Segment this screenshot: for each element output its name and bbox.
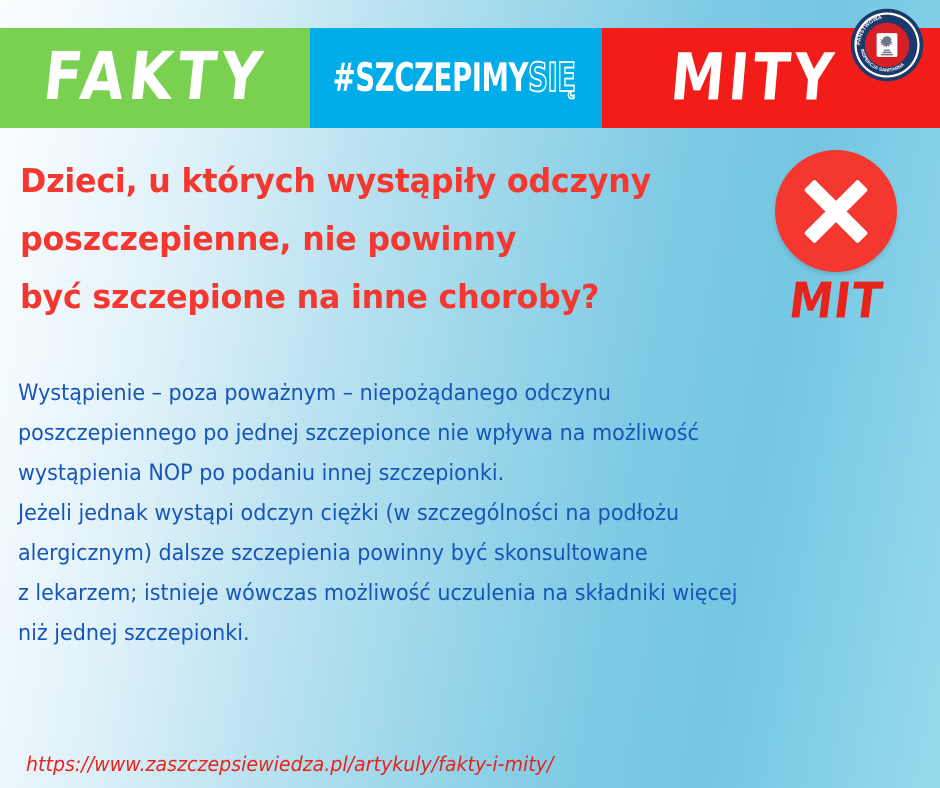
campaign-hashtag: #SZCZEPIMY SIĘ	[332, 55, 575, 101]
verdict-badge: MIT	[775, 150, 897, 324]
facts-label: FAKTY	[40, 45, 269, 111]
x-mark-icon	[775, 150, 897, 272]
hashtag-outline-part: SIĘ	[528, 55, 576, 101]
verdict-label: MIT	[772, 277, 900, 326]
header-banner: FAKTY #SZCZEPIMY SIĘ MITY	[0, 28, 940, 128]
body-line: alergicznym) dalsze szczepienia powinny …	[18, 534, 870, 574]
body-line: niż jednej szczepionki.	[18, 614, 870, 654]
body-line: Jeżeli jednak wystąpi odczyn ciężki (w s…	[18, 494, 870, 534]
facts-band: FAKTY	[0, 28, 310, 128]
heading-line-3: być szczepione na inne choroby?	[20, 268, 730, 326]
infographic-card: FAKTY #SZCZEPIMY SIĘ MITY PAŃSTWOWA	[0, 0, 940, 788]
body-line: Wystąpienie – poza poważnym – niepożądan…	[18, 374, 870, 414]
source-url[interactable]: https://www.zaszczepsiewiedza.pl/artykul…	[26, 752, 553, 776]
myths-label: MITY	[668, 46, 839, 111]
campaign-hashtag-band: #SZCZEPIMY SIĘ	[310, 28, 602, 128]
body-line: wystąpienia NOP po podaniu innej szczepi…	[18, 454, 870, 494]
heading-line-2: poszczepienne, nie powinny	[20, 210, 730, 268]
body-text: Wystąpienie – poza poważnym – niepożądan…	[18, 374, 924, 654]
page-title: Dzieci, u których wystąpiły odczyny posz…	[20, 152, 760, 326]
heading-line-1: Dzieci, u których wystąpiły odczyny	[20, 152, 730, 210]
body-line: z lekarzem; istnieje wówczas możliwość u…	[18, 574, 870, 614]
hashtag-solid-part: #SZCZEPIMY	[332, 55, 528, 101]
body-line: poszczepiennego po jednej szczepionce ni…	[18, 414, 870, 454]
panstwowa-inspekcja-sanitarna-logo: PAŃSTWOWA INSPEKCJA SANITARNA	[850, 8, 924, 82]
